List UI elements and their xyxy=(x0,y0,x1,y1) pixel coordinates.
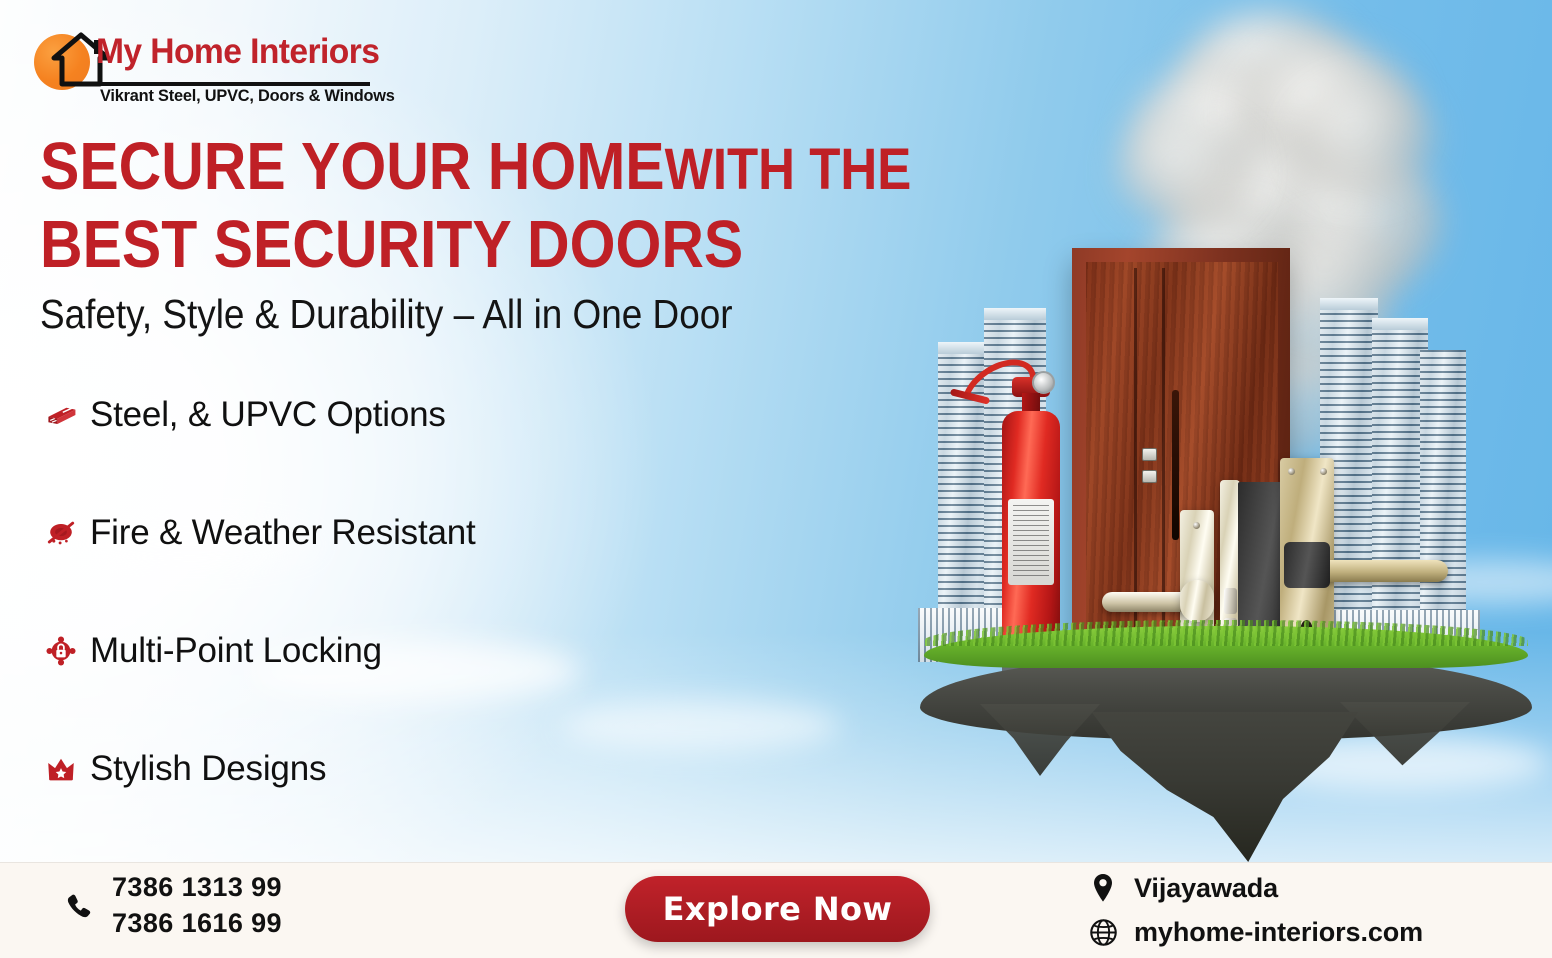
footer-divider xyxy=(0,862,1552,863)
rock-spike xyxy=(980,704,1100,776)
feature-item-fire-weather: Fire & Weather Resistant xyxy=(40,510,660,556)
brand-tagline: Vikrant Steel, UPVC, Doors & Windows xyxy=(100,87,395,106)
door-pull-slot xyxy=(1172,390,1179,540)
pressure-gauge-icon xyxy=(1032,371,1055,394)
lock-bolt xyxy=(1224,588,1237,614)
crown-icon xyxy=(40,748,82,790)
phone-numbers: 7386 1313 99 7386 1616 99 xyxy=(112,870,282,941)
headline-block: SECURE YOUR HOMEWITH THE BEST SECURITY D… xyxy=(40,134,1130,277)
feature-item-multi-point-locking: Multi-Point Locking xyxy=(40,628,660,674)
feature-label: Multi-Point Locking xyxy=(90,631,382,671)
footer-website-row[interactable]: myhome-interiors.com xyxy=(1086,910,1423,954)
feature-label: Stylish Designs xyxy=(90,749,326,789)
explore-now-button[interactable]: Explore Now xyxy=(625,876,930,942)
floating-island xyxy=(920,616,1532,856)
skyscraper-cap xyxy=(1372,318,1428,330)
feature-label: Steel, & UPVC Options xyxy=(90,395,446,435)
screw-icon xyxy=(1320,468,1327,475)
promo-banner: My Home Interiors Vikrant Steel, UPVC, D… xyxy=(0,0,1552,958)
door-button xyxy=(1142,448,1157,461)
rock-spike-main xyxy=(1080,712,1370,862)
brand-name: My Home Interiors xyxy=(96,32,379,72)
location-pin-icon xyxy=(1086,873,1120,903)
feature-list: Steel, & UPVC Options Fire & Weather Res… xyxy=(40,392,660,792)
logo-divider xyxy=(98,82,370,86)
headline-emphasis: SECURE YOUR HOME xyxy=(40,129,665,204)
location-label: Vijayawada xyxy=(1134,873,1278,904)
door-button xyxy=(1142,470,1157,483)
lever-collar xyxy=(1284,542,1330,588)
skyscraper-right xyxy=(1420,350,1466,650)
headline-line-2: BEST SECURITY DOORS xyxy=(40,212,999,278)
skyscraper-cap xyxy=(984,308,1046,320)
phone-icon xyxy=(58,880,98,932)
extinguisher-label xyxy=(1008,499,1054,585)
brass-lever-handle xyxy=(1310,560,1448,582)
feature-item-steel-upvc: Steel, & UPVC Options xyxy=(40,392,660,438)
footer-location-row[interactable]: Vijayawada xyxy=(1086,866,1423,910)
lock-circle-icon xyxy=(40,630,82,672)
footer-phone-block[interactable]: 7386 1313 99 7386 1616 99 xyxy=(58,870,282,941)
brand-logo[interactable]: My Home Interiors Vikrant Steel, UPVC, D… xyxy=(34,24,354,116)
steel-beam-icon xyxy=(40,394,82,436)
subheadline: Safety, Style & Durability – All in One … xyxy=(40,291,733,338)
feature-label: Fire & Weather Resistant xyxy=(90,513,476,553)
screw-icon xyxy=(1288,468,1295,475)
feature-item-stylish-designs: Stylish Designs xyxy=(40,746,660,792)
fire-resistant-icon xyxy=(40,512,82,554)
explore-now-label: Explore Now xyxy=(663,890,893,928)
headline-rest: WITH THE xyxy=(665,137,912,202)
footer-contact-block: Vijayawada myhome-interiors.com xyxy=(1086,866,1423,954)
fire-extinguisher xyxy=(1002,365,1060,655)
screw-icon xyxy=(1193,522,1200,529)
skyscraper-cap xyxy=(1320,298,1378,310)
grass-blades xyxy=(924,620,1528,646)
website-label: myhome-interiors.com xyxy=(1134,917,1423,948)
headline-line-1: SECURE YOUR HOMEWITH THE xyxy=(40,134,999,200)
phone-number: 7386 1616 99 xyxy=(112,906,282,942)
phone-number: 7386 1313 99 xyxy=(112,870,282,906)
globe-icon xyxy=(1086,918,1120,947)
